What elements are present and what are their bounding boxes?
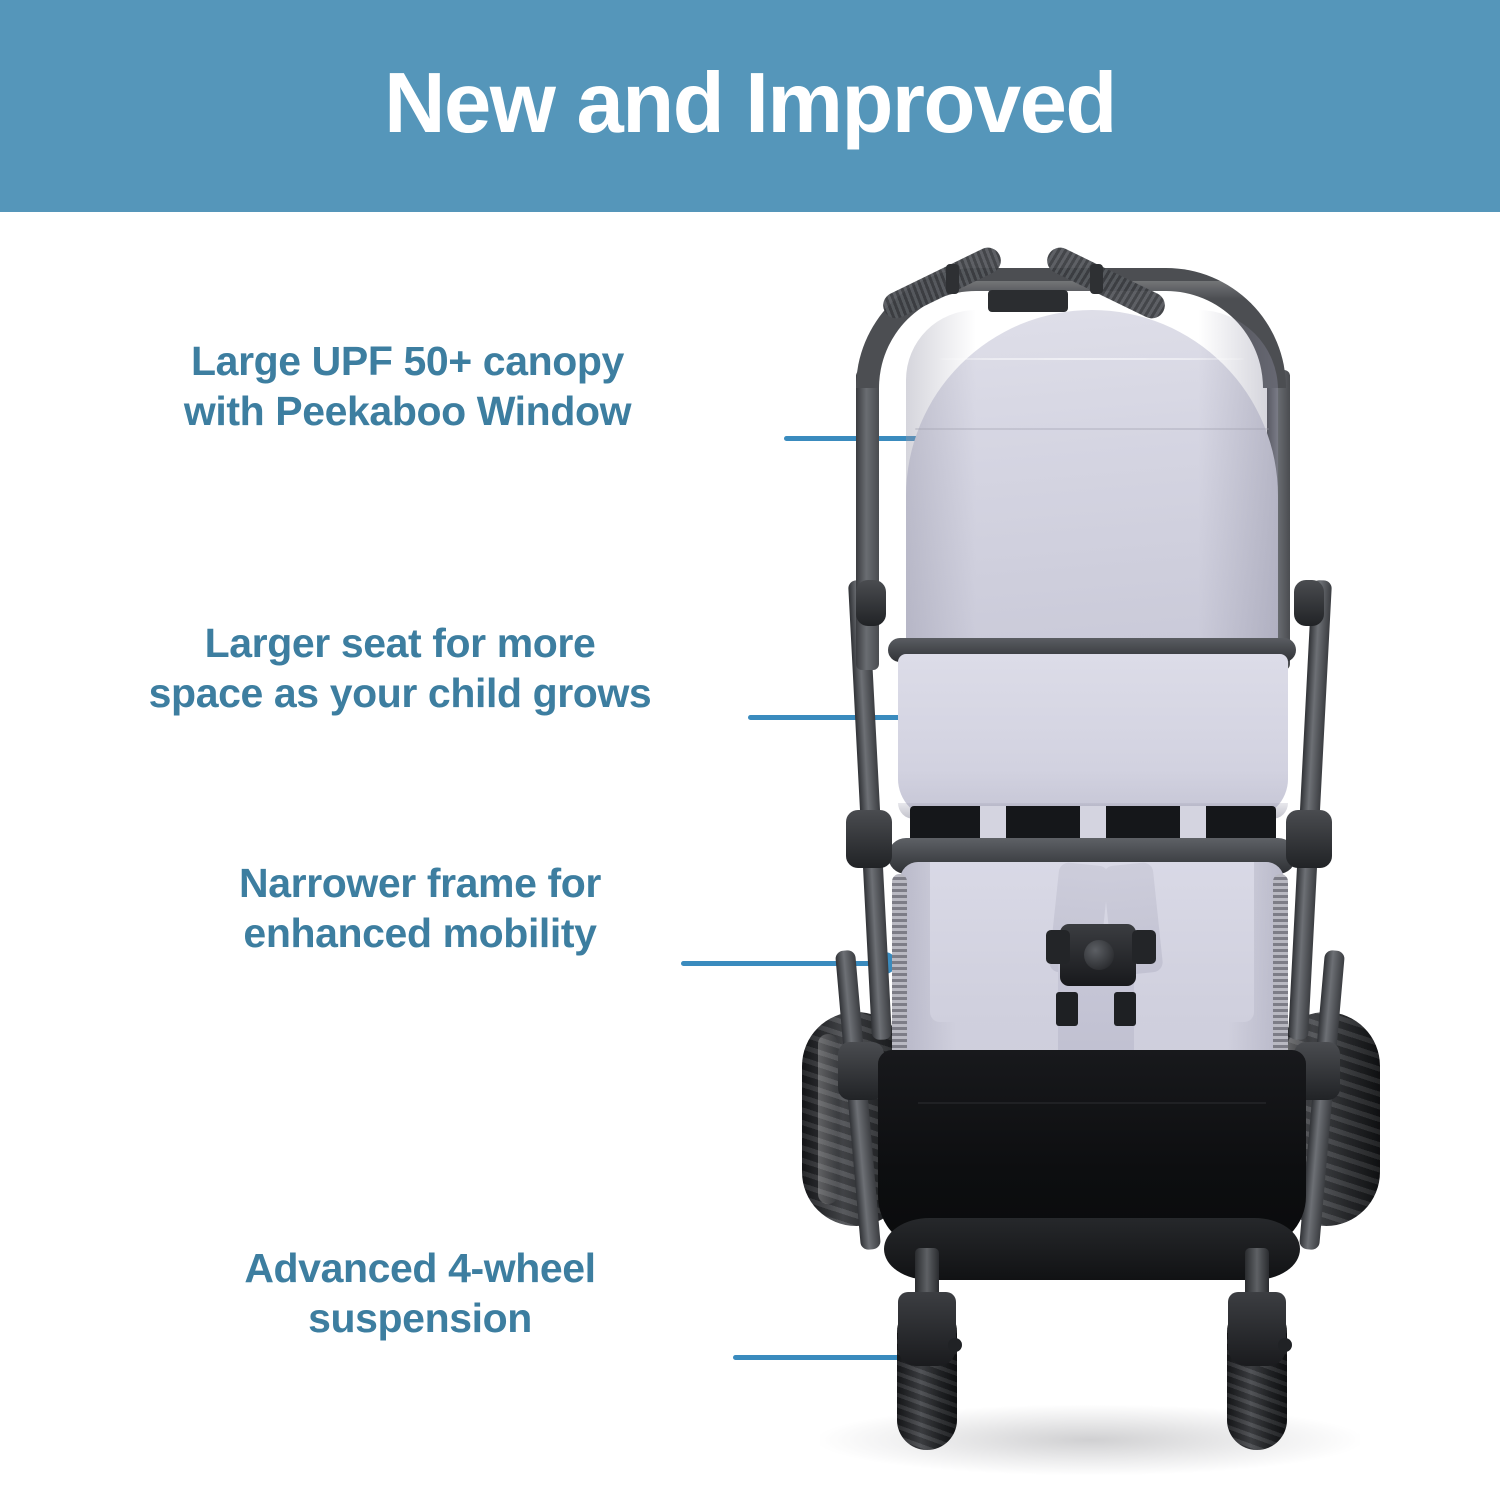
callout-suspension-line2: suspension — [145, 1293, 695, 1343]
handlebar-joint-right — [1090, 264, 1103, 294]
harness-buckle — [1060, 924, 1136, 986]
basket-crease — [918, 1102, 1266, 1104]
callout-seat-line1: Larger seat for more — [85, 618, 715, 668]
handlebar-center-clip — [988, 290, 1068, 312]
wheel-highlight — [818, 1034, 838, 1204]
callout-frame-line1: Narrower frame for — [145, 858, 695, 908]
header-banner: New and Improved — [0, 0, 1500, 212]
frame-joint-mid-right — [1286, 810, 1332, 868]
caster-pin — [1278, 1338, 1292, 1352]
frame-joint-upper-right — [1294, 580, 1324, 626]
callout-frame-line2: enhanced mobility — [145, 908, 695, 958]
canopy-seam — [939, 358, 1244, 360]
callout-seat-line2: space as your child grows — [85, 668, 715, 718]
canopy-shading-left — [906, 310, 976, 655]
harness-strap-right — [1114, 992, 1136, 1026]
callout-canopy-line2: with Peekaboo Window — [95, 386, 720, 436]
caster-pin — [948, 1338, 962, 1352]
canopy-dome — [906, 310, 1278, 655]
harness-release-button — [1084, 940, 1114, 970]
storage-basket-lip — [884, 1218, 1300, 1280]
stroller-product-image — [760, 250, 1420, 1490]
callout-label-frame: Narrower frame for enhanced mobility — [145, 858, 695, 958]
canopy-shading-right — [1198, 310, 1278, 655]
harness-buckle-wing-left — [1046, 930, 1070, 964]
callout-label-canopy: Large UPF 50+ canopy with Peekaboo Windo… — [95, 336, 720, 436]
frame-joint-mid-left — [846, 810, 892, 868]
harness-strap-left — [1056, 992, 1078, 1026]
callout-suspension-line1: Advanced 4-wheel — [145, 1243, 695, 1293]
page-title: New and Improved — [384, 61, 1116, 152]
handlebar-joint-left — [946, 264, 959, 294]
canopy-panel-line — [915, 428, 1268, 430]
infographic-page: New and Improved Large UPF 50+ canopy wi… — [0, 0, 1500, 1500]
front-caster-housing-left — [898, 1292, 956, 1366]
front-caster-housing-right — [1228, 1292, 1286, 1366]
canopy-front-flap — [898, 654, 1288, 819]
frame-joint-upper-left — [856, 580, 886, 626]
harness-buckle-wing-right — [1132, 930, 1156, 964]
callout-label-seat: Larger seat for more space as your child… — [85, 618, 715, 718]
callout-canopy-line1: Large UPF 50+ canopy — [95, 336, 720, 386]
callout-label-suspension: Advanced 4-wheel suspension — [145, 1243, 695, 1343]
